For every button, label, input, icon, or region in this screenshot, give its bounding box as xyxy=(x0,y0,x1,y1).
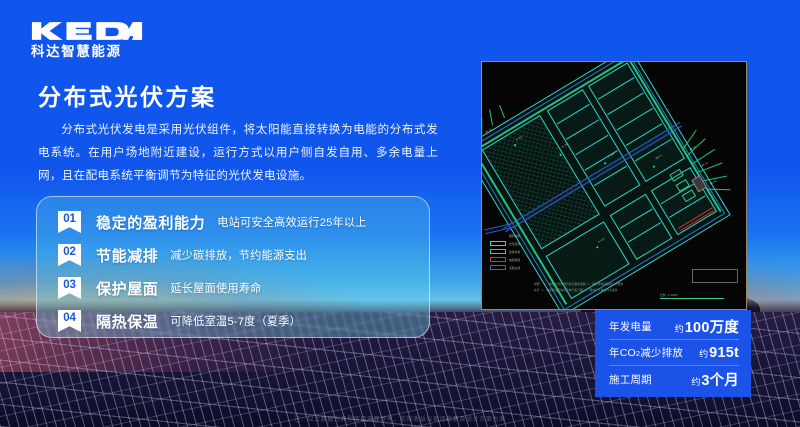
cad-annotation: KB-02 xyxy=(701,162,708,168)
stat-label: 施工周期 xyxy=(609,372,652,387)
stat-approx: 约 xyxy=(699,347,708,360)
feature-number: 04 xyxy=(63,310,75,326)
stat-number: 100万度 xyxy=(685,316,739,337)
page-title: 分布式光伏方案 xyxy=(38,78,217,112)
stat-approx: 约 xyxy=(675,322,684,335)
shield-number-icon: 01 xyxy=(58,211,81,233)
shield-number-icon: 04 xyxy=(58,310,81,332)
cad-legend-label: 图例说明 xyxy=(509,234,520,238)
cad-scale-bar: 比例 1:1000 xyxy=(660,293,724,299)
feature-desc: 减少碳排放，节约能源支出 xyxy=(170,247,307,263)
stat-value: 约 100万度 xyxy=(675,316,739,337)
stat-label: 年发电量 xyxy=(609,319,652,334)
feature-desc: 可降低室温5-7度（夏季） xyxy=(170,313,301,329)
cad-legend: 图例说明 光伏区域 建筑轮廓 电缆路径 道路边线 xyxy=(490,233,548,273)
stat-number: 3个月 xyxy=(701,369,739,390)
list-item[interactable]: 03 保护屋面 延长屋面使用寿命 xyxy=(58,273,430,303)
list-item[interactable]: 02 节能减排 减少碳排放，节约能源支出 xyxy=(58,240,430,270)
cad-annotation: KB-03 xyxy=(710,180,717,186)
stats-panel: 年发电量 约 100万度 年CO2减少排放 约 915t 施工周期 约 3个月 xyxy=(595,310,751,397)
cad-notes: 说明： 1. 本图为光伏阵列总平面布置图 2. 组件排布间距按设计要求执行 3.… xyxy=(534,282,624,293)
cad-site-plan-image[interactable]: PV-01 A-102 B-205 C-310 INV-4 D-418 KB-0… xyxy=(481,61,747,310)
shield-number-icon: 03 xyxy=(58,277,81,299)
feature-number: 03 xyxy=(63,277,75,293)
stat-number: 915t xyxy=(709,345,739,361)
stat-label: 年CO2减少排放 xyxy=(609,345,683,360)
table-row: 年发电量 约 100万度 xyxy=(609,314,739,340)
feature-number: 01 xyxy=(63,211,75,227)
table-row: 施工周期 约 3个月 xyxy=(609,366,739,392)
cad-legend-label: 道路边线 xyxy=(509,266,520,270)
stat-approx: 约 xyxy=(691,375,700,388)
cad-canvas: PV-01 A-102 B-205 C-310 INV-4 D-418 KB-0… xyxy=(482,62,746,309)
list-item[interactable]: 01 稳定的盈利能力 电站可安全高效运行25年以上 xyxy=(58,207,430,237)
feature-title: 节能减排 xyxy=(96,245,158,266)
feature-title: 隔热保温 xyxy=(96,311,158,332)
stat-value: 约 915t xyxy=(699,345,739,361)
table-row: 年CO2减少排放 约 915t xyxy=(609,340,739,366)
cad-title-block xyxy=(692,269,738,283)
feature-title: 保护屋面 xyxy=(96,278,158,299)
list-item[interactable]: 04 隔热保温 可降低室温5-7度（夏季） xyxy=(58,306,430,336)
footer-disclaimer: 注：以上数据为典型项目测算参考，实际收益以现场勘察及设计方案为准 xyxy=(0,414,800,423)
cad-legend-label: 光伏区域 xyxy=(509,242,520,246)
feature-number: 02 xyxy=(63,244,75,260)
feature-list: 01 稳定的盈利能力 电站可安全高效运行25年以上 02 节能减排 减少碳排放，… xyxy=(36,196,430,338)
feature-desc: 电站可安全高效运行25年以上 xyxy=(217,214,367,230)
feature-desc: 延长屋面使用寿命 xyxy=(170,280,261,296)
brand-name-cn: 科达智慧能源 xyxy=(31,45,156,59)
cad-legend-label: 建筑轮廓 xyxy=(509,250,520,254)
shield-number-icon: 02 xyxy=(58,244,81,266)
intro-paragraph: 分布式光伏发电是采用光伏组件，将太阳能直接转换为电能的分布式发电系统。在用户场地… xyxy=(38,118,438,188)
cad-scale-label: 比例 1:1000 xyxy=(660,293,724,297)
keda-wordmark-icon xyxy=(31,20,143,42)
brand-logo: 科达智慧能源 xyxy=(26,20,156,59)
stat-value: 约 3个月 xyxy=(691,369,739,390)
slide-root: 科达智慧能源 分布式光伏方案 分布式光伏发电是采用光伏组件，将太阳能直接转换为电… xyxy=(0,0,800,427)
cad-legend-label: 电缆路径 xyxy=(509,258,520,262)
feature-title: 稳定的盈利能力 xyxy=(96,212,205,233)
